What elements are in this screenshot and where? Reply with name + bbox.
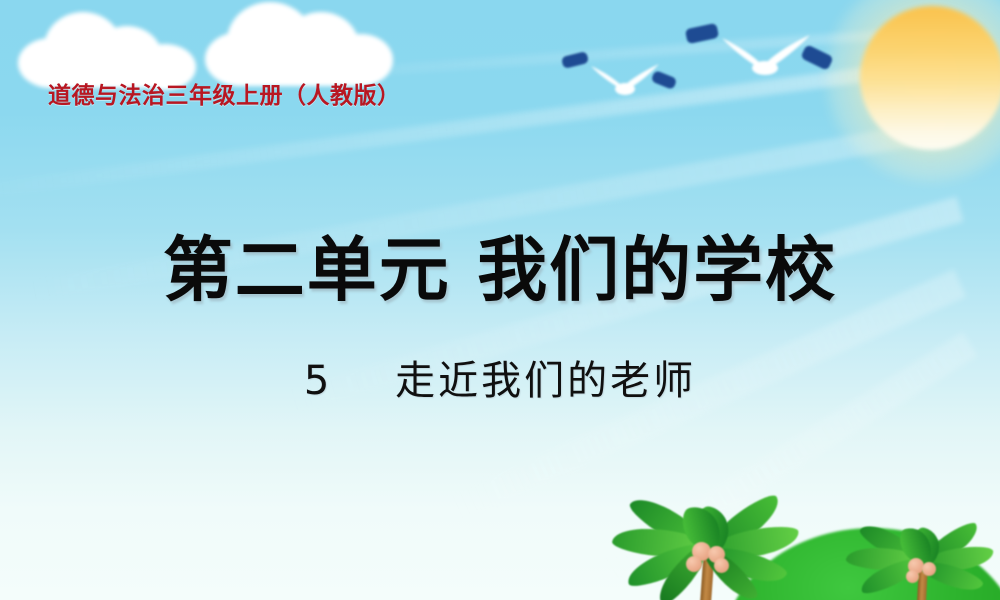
bird-icon bbox=[588, 58, 662, 98]
sun-icon bbox=[860, 6, 1000, 150]
palm-tree-icon bbox=[856, 512, 998, 600]
lesson-subtitle: 5 走近我们的老师 bbox=[0, 348, 1000, 406]
palm-tree-icon bbox=[624, 484, 800, 600]
cloud-icon bbox=[205, 0, 395, 88]
book-series-label: 道德与法治三年级上册（人教版） bbox=[48, 76, 401, 110]
page-title: 第二单元 我们的学校 bbox=[0, 214, 1000, 315]
presentation-slide: 道德与法治三年级上册（人教版） 第二单元 我们的学校 5 走近我们的老师 bbox=[0, 0, 1000, 600]
bird-icon bbox=[718, 28, 814, 80]
